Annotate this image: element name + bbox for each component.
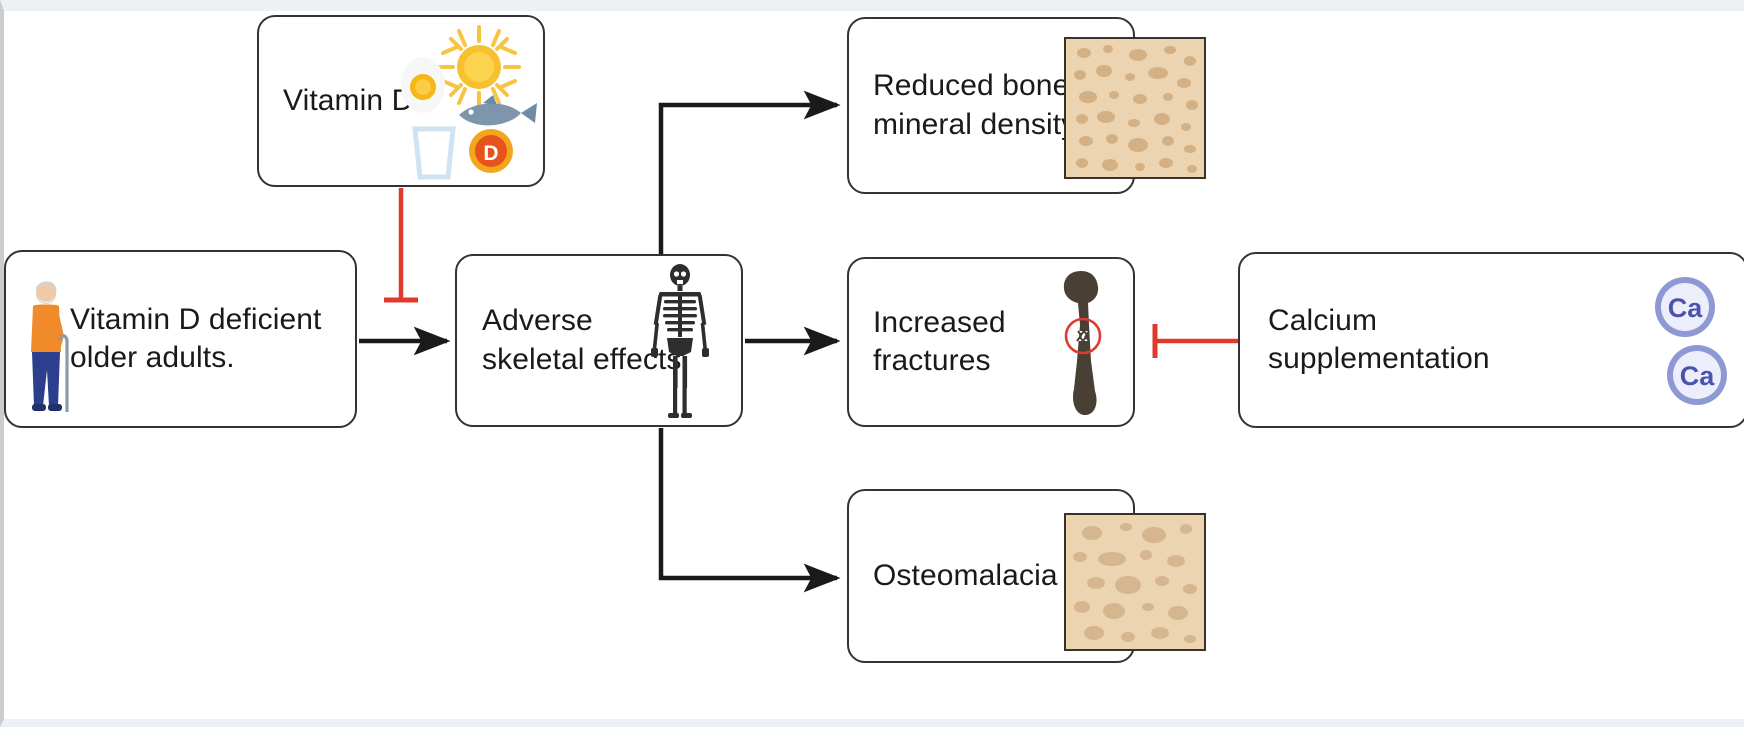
milk-glass-icon [415, 129, 453, 177]
node-vitamin-d-label: Vitamin D [283, 82, 413, 120]
calcium-pill-icon: Ca [1652, 274, 1718, 340]
edge-calcium-inhibits-fractures [1155, 324, 1238, 358]
edge-vitamin-d-inhibits [384, 188, 418, 300]
node-osteomalacia-label: Osteomalacia [873, 557, 1058, 595]
skeleton-icon [637, 262, 723, 420]
node-vitamin-d-deficient-older-adults-label: Vitamin D deficient older adults. [70, 301, 321, 378]
node-calcium-supplementation-label: Calcium supplementation [1268, 302, 1490, 379]
node-calcium-supplementation[interactable]: Calcium supplementation Ca Ca [1238, 252, 1744, 428]
sun-icon [439, 27, 519, 107]
porous-bone-texture-icon [1064, 513, 1206, 651]
calcium-pills-artwork: Ca Ca [1650, 274, 1728, 410]
elderly-person-with-cane-icon [22, 274, 80, 414]
fractured-bone-icon [1047, 265, 1123, 421]
diagram-canvas: Vitamin D [0, 0, 1744, 727]
edge-adverse-to-bmd [661, 105, 837, 254]
egg-icon [401, 57, 445, 113]
node-vitamin-d[interactable]: Vitamin D [257, 15, 545, 187]
node-increased-fractures-label: Increased fractures [873, 304, 1006, 381]
node-osteomalacia[interactable]: Osteomalacia [847, 489, 1135, 663]
vitamin-d-pill-icon: D [469, 129, 513, 173]
node-vitamin-d-deficient-older-adults[interactable]: Vitamin D deficient older adults. [4, 250, 357, 428]
node-reduced-bone-mineral-density[interactable]: Reduced bone mineral density [847, 17, 1135, 194]
calcium-pill-label-2: Ca [1680, 361, 1715, 391]
calcium-pill-icon: Ca [1664, 342, 1730, 408]
trabecular-bone-texture-icon [1064, 37, 1206, 179]
calcium-pill-label-1: Ca [1668, 293, 1703, 323]
vitamin-d-sources-artwork: D [397, 23, 537, 181]
node-adverse-skeletal-effects[interactable]: Adverse skeletal effects [455, 254, 743, 427]
svg-text:D: D [483, 142, 498, 165]
edge-adverse-to-osteomalacia [661, 428, 837, 578]
node-reduced-bone-mineral-density-label: Reduced bone mineral density [873, 67, 1076, 144]
node-increased-fractures[interactable]: Increased fractures [847, 257, 1135, 427]
